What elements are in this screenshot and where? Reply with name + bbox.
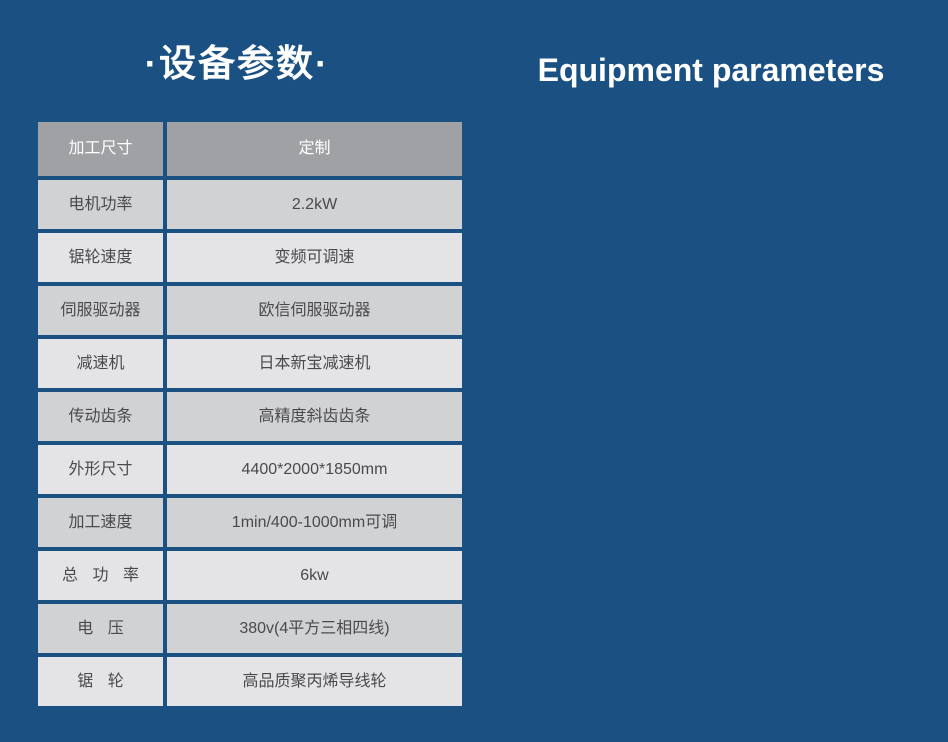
parameter-value: 4400*2000*1850mm [167, 445, 462, 494]
parameter-name: 外形尺寸 [38, 445, 163, 494]
parameter-name: 锯轮速度 [38, 233, 163, 282]
table-row: 锯 轮 高品质聚丙烯导线轮 [38, 657, 462, 706]
parameter-value: 6kw [167, 551, 462, 600]
specification-page: ·设备参数· 加工尺寸 定制 电机功率 2.2kW 锯轮速度 变频可调速 伺服驱… [0, 0, 948, 742]
parameter-value: 定制 [167, 122, 462, 176]
page-title-english: Equipment parameters [474, 48, 948, 92]
table-row: 电 压 380v(4平方三相四线) [38, 604, 462, 653]
parameter-value: 1min/400-1000mm可调 [167, 498, 462, 547]
parameter-value: 日本新宝减速机 [167, 339, 462, 388]
parameter-name: 总 功 率 [38, 551, 163, 600]
chinese-parameters-panel: ·设备参数· 加工尺寸 定制 电机功率 2.2kW 锯轮速度 变频可调速 伺服驱… [0, 0, 474, 742]
table-row: 锯轮速度 变频可调速 [38, 233, 462, 282]
parameter-name: 电 压 [38, 604, 163, 653]
parameter-name: 伺服驱动器 [38, 286, 163, 335]
english-parameters-panel: Equipment parameters machining dimension… [474, 0, 948, 742]
chinese-parameters-table: 加工尺寸 定制 电机功率 2.2kW 锯轮速度 变频可调速 伺服驱动器 欧信伺服… [38, 122, 462, 706]
parameter-name: 加工速度 [38, 498, 163, 547]
table-row: 总 功 率 6kw [38, 551, 462, 600]
table-row: 减速机 日本新宝减速机 [38, 339, 462, 388]
parameter-name: 传动齿条 [38, 392, 163, 441]
parameter-value: 变频可调速 [167, 233, 462, 282]
table-row: 传动齿条 高精度斜齿齿条 [38, 392, 462, 441]
parameter-value: 2.2kW [167, 180, 462, 229]
parameter-name: 电机功率 [38, 180, 163, 229]
parameter-value: 欧信伺服驱动器 [167, 286, 462, 335]
parameter-value: 高精度斜齿齿条 [167, 392, 462, 441]
table-row: 加工尺寸 定制 [38, 122, 462, 176]
page-title-chinese: ·设备参数· [0, 42, 474, 86]
parameter-name: 加工尺寸 [38, 122, 163, 176]
parameter-value: 高品质聚丙烯导线轮 [167, 657, 462, 706]
table-row: 电机功率 2.2kW [38, 180, 462, 229]
parameter-name: 减速机 [38, 339, 163, 388]
table-row: 外形尺寸 4400*2000*1850mm [38, 445, 462, 494]
parameter-value: 380v(4平方三相四线) [167, 604, 462, 653]
table-row: 伺服驱动器 欧信伺服驱动器 [38, 286, 462, 335]
parameter-name: 锯 轮 [38, 657, 163, 706]
table-row: 加工速度 1min/400-1000mm可调 [38, 498, 462, 547]
